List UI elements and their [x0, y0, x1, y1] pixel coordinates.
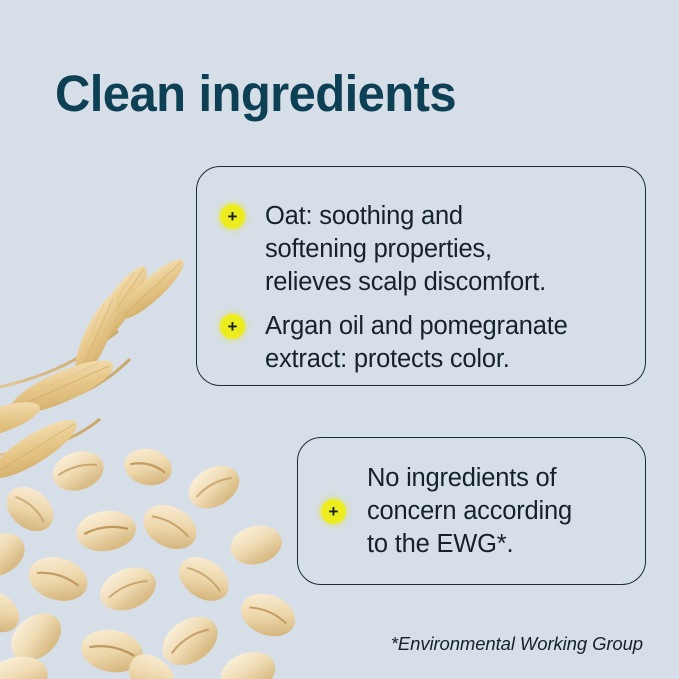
- product-claims-panel: Clean ingredients + Oat: soothing and so…: [0, 0, 679, 679]
- bullet-item-argan: + Argan oil and pomegranate extract: pro…: [220, 310, 645, 376]
- page-title: Clean ingredients: [55, 64, 456, 124]
- bullet-item-oat: + Oat: soothing and softening properties…: [220, 200, 640, 299]
- plus-icon: +: [321, 499, 346, 524]
- bullet-item-label: Oat: soothing and softening properties, …: [265, 200, 546, 299]
- bullet-item-label: No ingredients of concern according to t…: [367, 462, 572, 561]
- plus-icon: +: [220, 204, 245, 229]
- bullet-item-label: Argan oil and pomegranate extract: prote…: [265, 310, 568, 376]
- plus-icon: +: [220, 314, 245, 339]
- bullet-item-ewg: + No ingredients of concern according to…: [321, 462, 641, 561]
- footnote: *Environmental Working Group: [391, 632, 643, 656]
